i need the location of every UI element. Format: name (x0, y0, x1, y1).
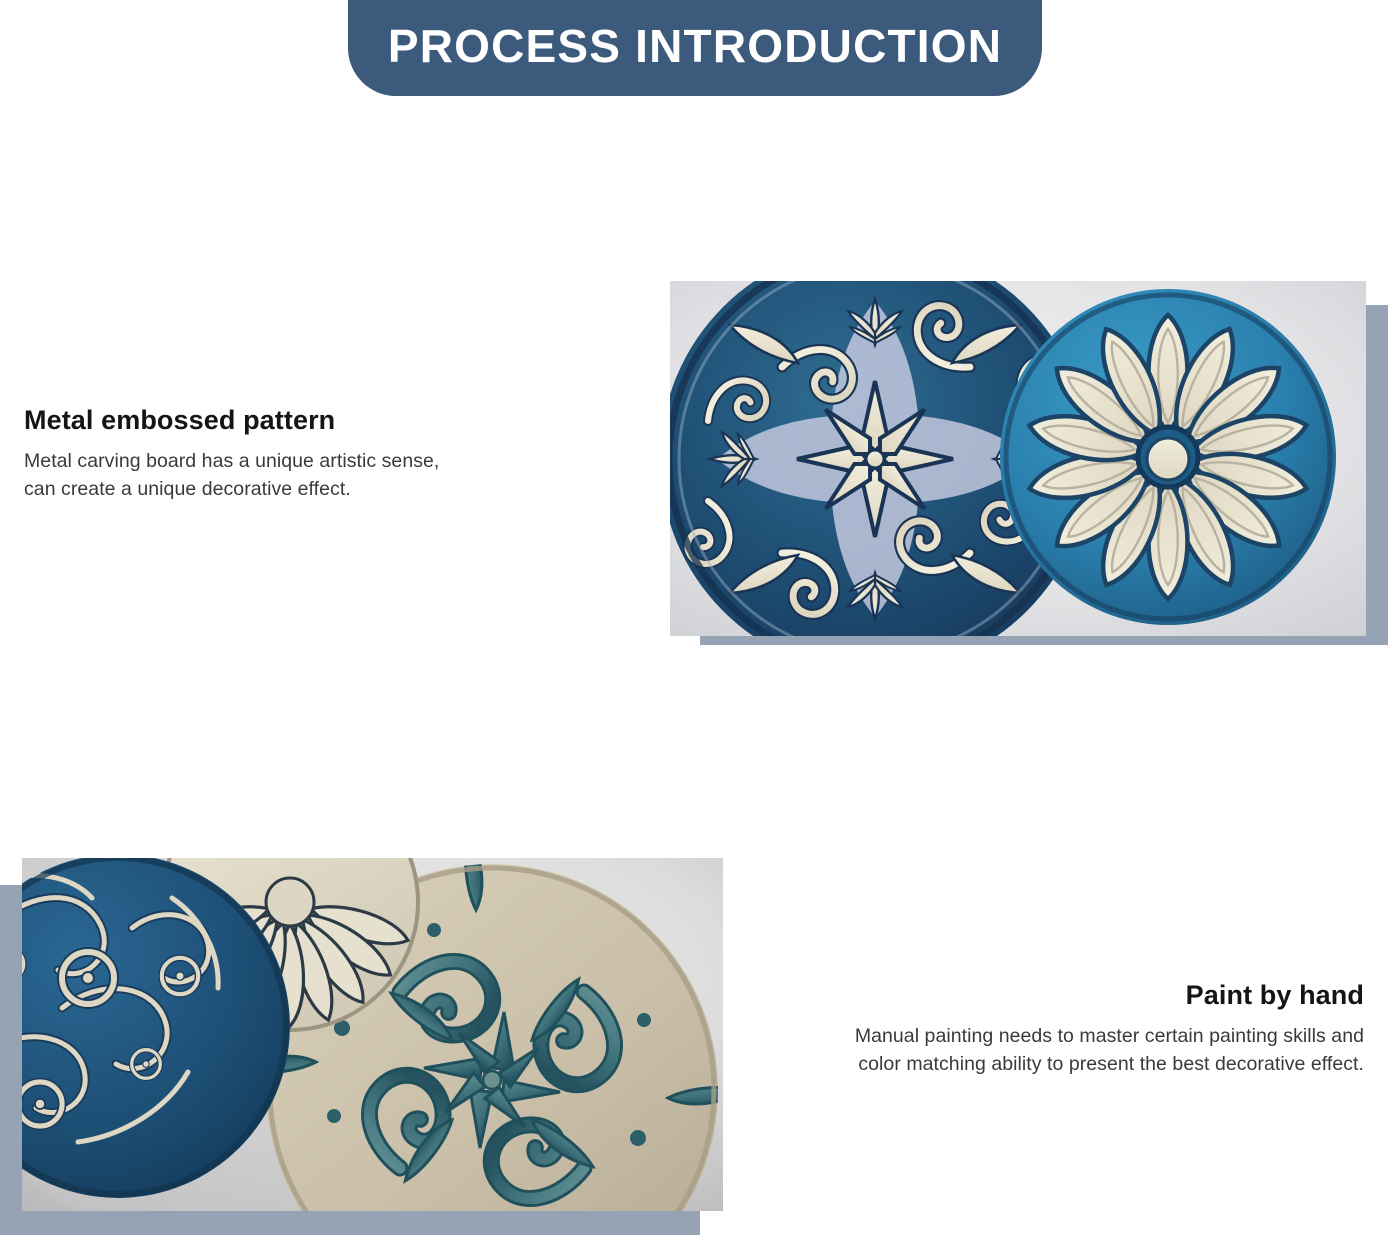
section-paint-by-hand: Paint by hand Manual painting needs to m… (762, 980, 1364, 1078)
hand-painted-medallions-photo (22, 858, 723, 1211)
body-line: Metal carving board has a unique artisti… (24, 448, 544, 476)
body-line: Manual painting needs to master certain … (762, 1023, 1364, 1051)
embossed-tile-medallions-photo (670, 281, 1366, 636)
body-line: color matching ability to present the be… (762, 1051, 1364, 1079)
page-title: PROCESS INTRODUCTION (388, 23, 1002, 73)
page-root: PROCESS INTRODUCTION (0, 0, 1388, 1235)
section-body: Metal carving board has a unique artisti… (24, 448, 544, 503)
section-metal-embossed-pattern: Metal embossed pattern Metal carving boa… (24, 405, 544, 503)
section-heading: Paint by hand (762, 980, 1364, 1011)
body-line: can create a unique decorative effect. (24, 476, 544, 504)
page-title-banner: PROCESS INTRODUCTION (348, 0, 1042, 96)
section-heading: Metal embossed pattern (24, 405, 544, 436)
section-body: Manual painting needs to master certain … (762, 1023, 1364, 1078)
